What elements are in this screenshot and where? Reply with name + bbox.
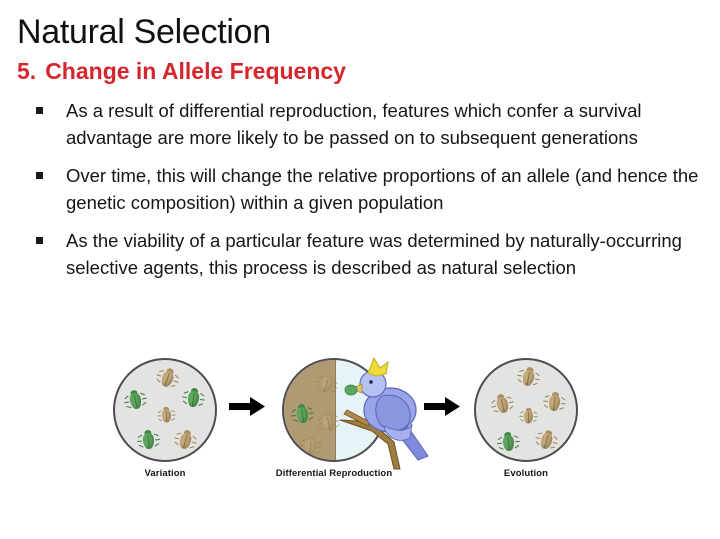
- arrow-right-icon: [424, 397, 460, 416]
- square-bullet-icon: [36, 172, 43, 179]
- subtitle-number: 5.: [17, 58, 36, 84]
- beetle-tan: [518, 365, 539, 389]
- beetle-green: [139, 429, 158, 451]
- beetle-tan: [492, 392, 514, 416]
- prey-beetle-icon: [345, 385, 357, 395]
- beetle-tan: [156, 366, 179, 392]
- list-item: As the viability of a particular feature…: [36, 228, 720, 281]
- bullet-text: Over time, this will change the relative…: [66, 163, 720, 216]
- bullet-text: As a result of differential reproduction…: [66, 98, 720, 151]
- beetle-tan: [521, 408, 536, 426]
- natural-selection-diagram: Variation Differential Reproduction Evol…: [0, 352, 720, 492]
- subtitle-label: Change in Allele Frequency: [45, 58, 346, 84]
- beetle-tan: [318, 411, 338, 435]
- stage-label-variation: Variation: [113, 468, 217, 479]
- beetle-tan: [535, 428, 557, 453]
- beetle-green: [293, 403, 313, 426]
- beetle-tan: [159, 407, 174, 425]
- square-bullet-icon: [36, 107, 43, 114]
- beetle-tan: [175, 428, 197, 452]
- bullet-text: As the viability of a particular feature…: [66, 228, 720, 281]
- beetle-green: [499, 431, 518, 454]
- arrow-right-icon: [229, 397, 265, 416]
- stage-label-reproduction: Differential Reproduction: [256, 468, 412, 479]
- petri-dish-variation: [113, 358, 217, 462]
- beetle-tan: [301, 435, 320, 458]
- square-bullet-icon: [36, 237, 43, 244]
- list-item: Over time, this will change the relative…: [36, 163, 720, 216]
- beetle-green: [125, 388, 146, 412]
- beetle-green: [184, 387, 204, 410]
- bullet-list: As a result of differential reproduction…: [36, 98, 720, 293]
- list-item: As a result of differential reproduction…: [36, 98, 720, 151]
- petri-dish-evolution: [474, 358, 578, 462]
- slide-subtitle: 5.Change in Allele Frequency: [17, 57, 346, 86]
- predator-bird-icon: [338, 352, 434, 470]
- stage-label-evolution: Evolution: [474, 468, 578, 479]
- beetle-tan: [545, 391, 565, 414]
- page-title: Natural Selection: [17, 12, 271, 52]
